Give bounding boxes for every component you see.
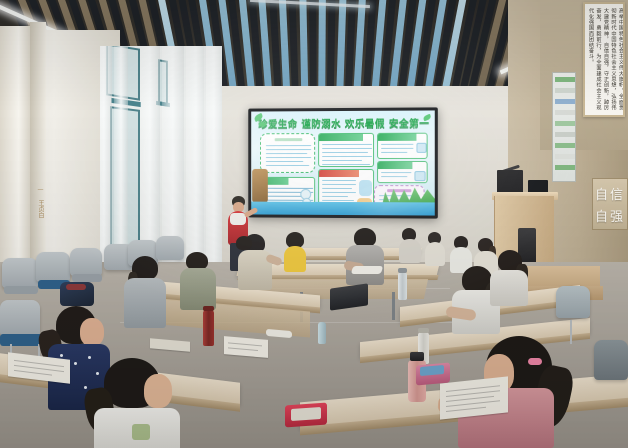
shirt bbox=[124, 278, 166, 328]
screen-title: 珍爱生命 谨防溺水 欢乐暑假 安全第一 bbox=[263, 116, 425, 130]
hair bbox=[236, 236, 252, 250]
child-illustration bbox=[359, 180, 372, 196]
bottle-cap bbox=[203, 306, 214, 311]
chair[interactable] bbox=[156, 236, 184, 260]
bottle-cap bbox=[398, 268, 407, 273]
chair[interactable] bbox=[594, 340, 628, 380]
framed-text-panel: 高举中国特色社会主义伟大旗帜，全面贯彻新时代中国特色社会主义思想，弘扬伟大建党精… bbox=[583, 2, 625, 117]
notice-row bbox=[555, 121, 575, 126]
notice-row bbox=[555, 88, 575, 93]
ceiling-slat bbox=[326, 0, 336, 96]
notice-row bbox=[555, 77, 575, 82]
notice-row bbox=[555, 110, 575, 115]
led-display-screen[interactable]: 珍爱生命 谨防溺水 欢乐暑假 安全第一 bbox=[251, 110, 435, 215]
open-notebook-center bbox=[224, 336, 268, 358]
chair[interactable] bbox=[36, 252, 70, 282]
notice-row bbox=[555, 154, 575, 159]
shirt bbox=[284, 246, 306, 272]
motto-sign: 自信 自强 bbox=[592, 178, 628, 230]
shirt-print bbox=[132, 424, 150, 440]
water-bottle-red bbox=[203, 310, 214, 346]
head bbox=[80, 318, 104, 346]
notice-row bbox=[555, 165, 575, 170]
chair[interactable] bbox=[0, 300, 40, 336]
ceiling-slat bbox=[318, 0, 326, 96]
notice-row bbox=[555, 143, 575, 148]
pencil-case-pattern bbox=[291, 407, 321, 421]
motto-line-1: 自信 bbox=[595, 184, 625, 203]
wall-calligraphy-signature: — 王贞白 bbox=[36, 186, 45, 218]
table-leg bbox=[392, 292, 395, 320]
shirt bbox=[180, 268, 216, 310]
ceiling-slat bbox=[288, 0, 300, 96]
ceiling-slat bbox=[299, 0, 309, 96]
bottle-cap bbox=[410, 352, 424, 361]
screen-panel bbox=[377, 133, 428, 159]
chair-leg bbox=[570, 320, 572, 344]
chair[interactable] bbox=[556, 286, 590, 318]
shirt bbox=[490, 270, 528, 306]
framed-panel-text: 高举中国特色社会主义伟大旗帜，全面贯彻新时代中国特色社会主义思想，弘扬伟大建党精… bbox=[588, 8, 624, 114]
shirt bbox=[399, 239, 421, 263]
ceiling-slat bbox=[309, 0, 317, 96]
rescue-illustration bbox=[414, 171, 425, 181]
tree-illustration bbox=[252, 169, 268, 203]
motto-line-2: 自强 bbox=[595, 206, 625, 225]
hair-tie bbox=[528, 358, 542, 365]
paper-sheet bbox=[351, 266, 383, 274]
screen-panel bbox=[318, 133, 374, 167]
notice-row bbox=[555, 132, 575, 137]
polka-dot bbox=[84, 386, 87, 389]
polka-dot bbox=[96, 372, 99, 375]
polka-dot bbox=[74, 362, 77, 365]
screen-panel bbox=[260, 133, 315, 173]
chair-seat[interactable] bbox=[4, 286, 38, 294]
water-wave-illustration bbox=[251, 202, 435, 216]
open-notebook-right bbox=[440, 376, 508, 419]
chair[interactable] bbox=[2, 258, 38, 288]
head bbox=[144, 374, 172, 408]
water-bottle-small bbox=[318, 322, 326, 344]
chair-seat[interactable] bbox=[72, 274, 102, 282]
leaf-decoration-icon bbox=[423, 114, 432, 122]
shirt bbox=[425, 242, 445, 266]
classroom-photo: 读书不觉已春深，一寸光阴一寸金。不是道人来引笑，周情孔思正追寻。 — 王贞白 高… bbox=[0, 0, 628, 448]
swim-illustration bbox=[416, 143, 426, 153]
led-display-bezel: 珍爱生命 谨防溺水 欢乐暑假 安全第一 bbox=[248, 107, 438, 218]
polka-dot bbox=[88, 356, 91, 359]
chair[interactable] bbox=[70, 248, 102, 276]
polka-dot bbox=[60, 354, 63, 357]
screen-panel bbox=[377, 161, 428, 183]
bottle-cap bbox=[418, 328, 429, 333]
notice-row bbox=[555, 99, 575, 104]
water-bottle-clear bbox=[398, 272, 407, 300]
notice-board bbox=[552, 72, 576, 182]
backpack-strap bbox=[66, 284, 86, 290]
